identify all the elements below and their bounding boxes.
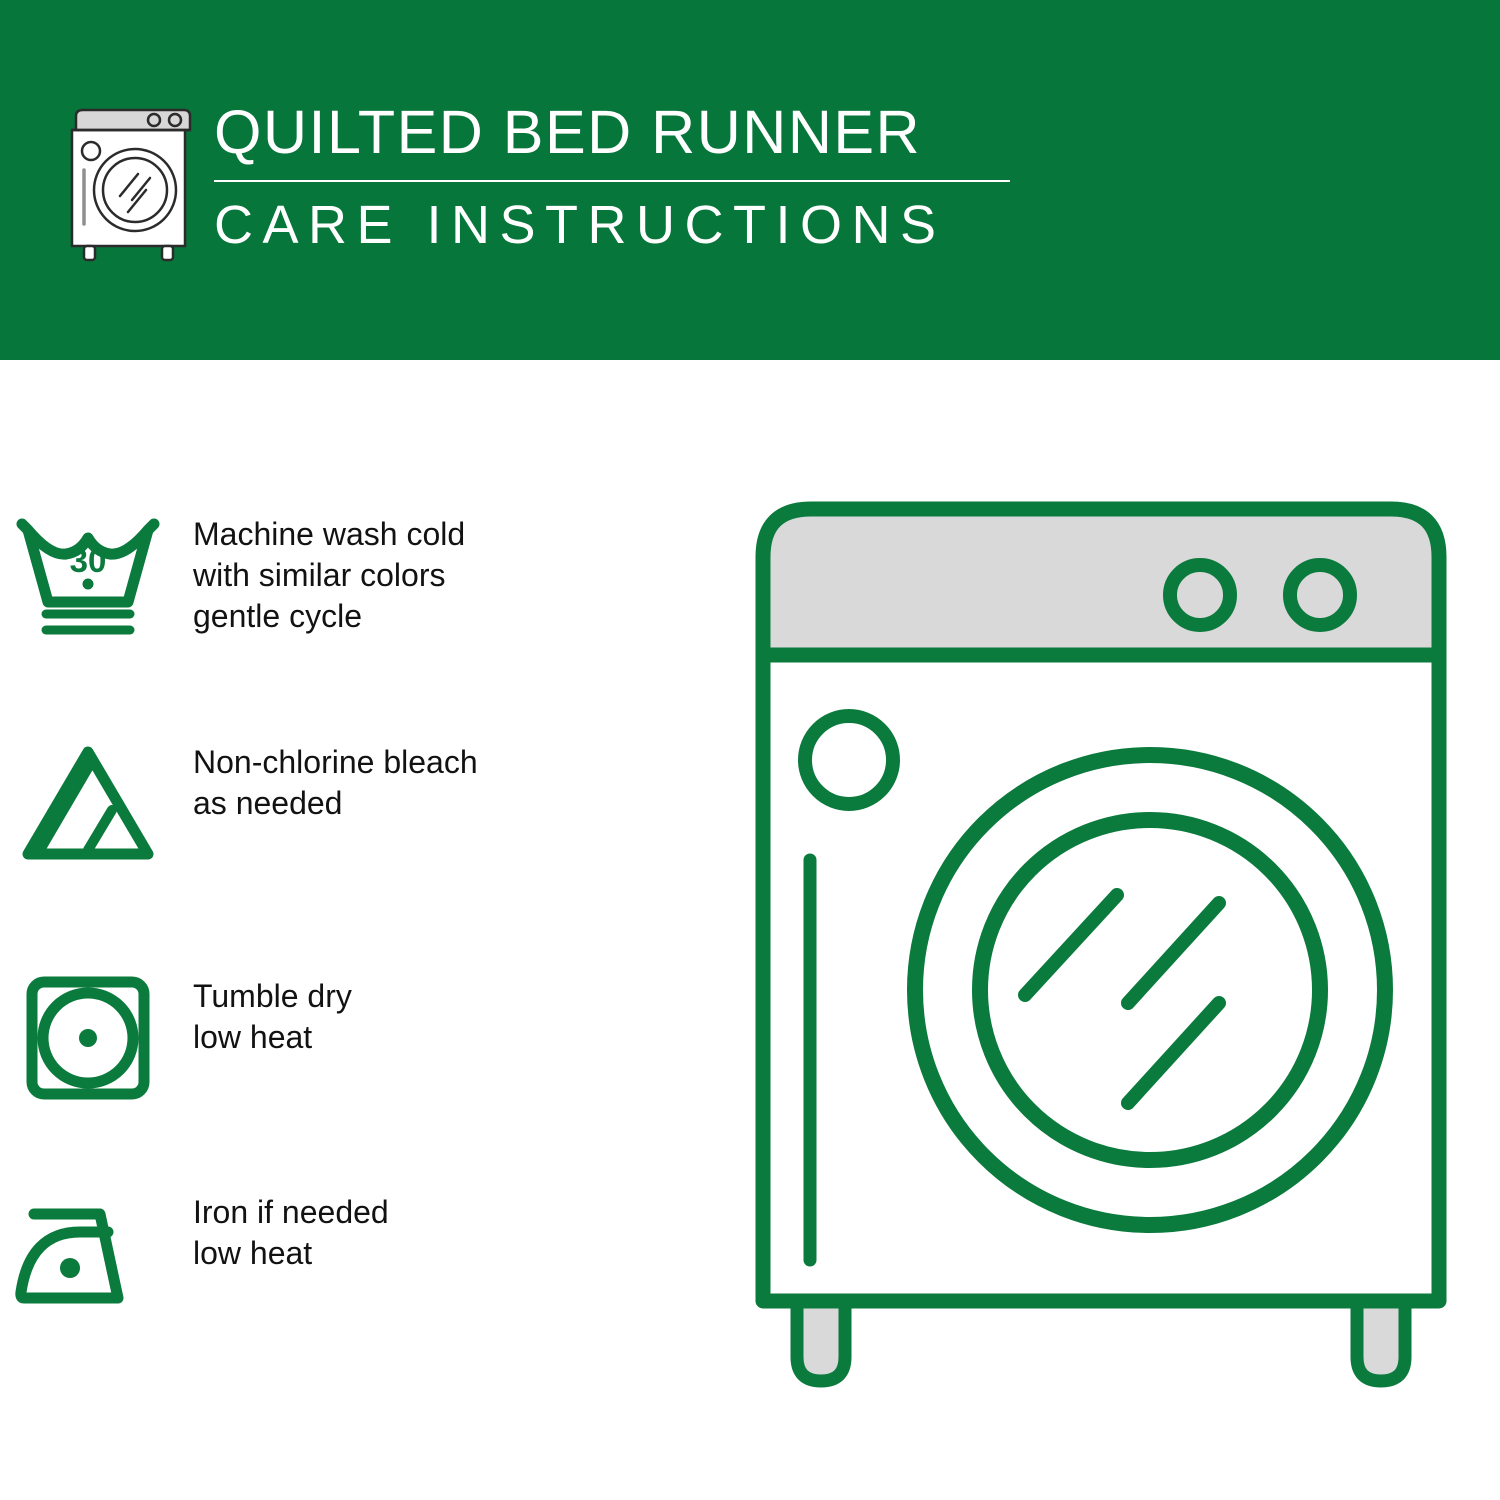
wash-temperature-label: 30 [69, 542, 106, 579]
care-text-line: Machine wash cold [193, 514, 465, 555]
header-banner: QUILTED BED RUNNER CARE INSTRUCTIONS [0, 0, 1500, 360]
page-title: QUILTED BED RUNNER [214, 96, 1034, 168]
care-text-machine-wash: Machine wash cold with similar colors ge… [175, 510, 465, 637]
care-text-line: low heat [193, 1233, 389, 1274]
care-instruction-list: 30 Machine wash cold with similar colors… [0, 360, 700, 1500]
tumble-dry-low-heat-symbol [0, 972, 175, 1102]
large-washing-machine-illustration [745, 495, 1475, 1415]
iron-low-heat-symbol [0, 1188, 175, 1318]
care-text-line: Iron if needed [193, 1192, 389, 1233]
washing-machine-icon [62, 104, 197, 264]
page-subtitle: CARE INSTRUCTIONS [214, 192, 1034, 258]
wash-tub-30-gentle-symbol: 30 [0, 510, 175, 640]
title-divider [214, 180, 1010, 182]
care-row-bleach: Non-chlorine bleach as needed [0, 738, 700, 868]
care-text-bleach: Non-chlorine bleach as needed [175, 738, 478, 824]
care-text-line: Tumble dry [193, 976, 352, 1017]
care-text-line: Non-chlorine bleach [193, 742, 478, 783]
care-row-iron: Iron if needed low heat [0, 1188, 700, 1318]
care-text-iron: Iron if needed low heat [175, 1188, 389, 1274]
care-text-tumble-dry: Tumble dry low heat [175, 972, 352, 1058]
care-text-line: with similar colors [193, 555, 465, 596]
care-row-machine-wash: 30 Machine wash cold with similar colors… [0, 510, 700, 640]
care-row-tumble-dry: Tumble dry low heat [0, 972, 700, 1102]
care-text-line: gentle cycle [193, 596, 465, 637]
non-chlorine-bleach-triangle-symbol [0, 738, 175, 868]
care-text-line: as needed [193, 783, 478, 824]
care-instructions-infographic: QUILTED BED RUNNER CARE INSTRUCTIONS 30 [0, 0, 1500, 1500]
care-text-line: low heat [193, 1017, 352, 1058]
header-text-block: QUILTED BED RUNNER CARE INSTRUCTIONS [214, 96, 1034, 258]
